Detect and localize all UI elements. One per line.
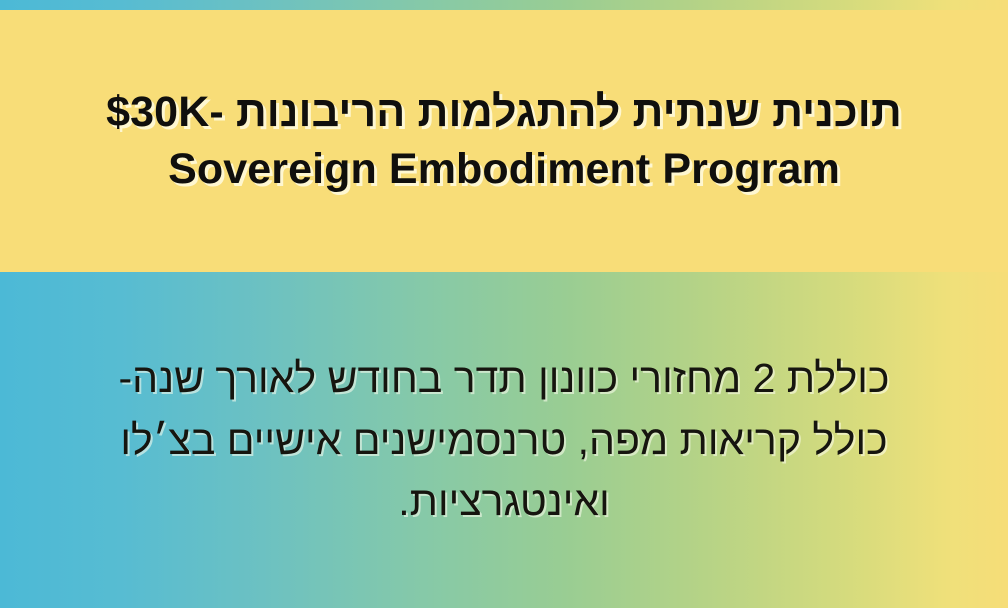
title-band: תוכנית שנתית להתגלמות הריבונות -$30K Sov…	[0, 10, 1008, 272]
slide-canvas: תוכנית שנתית להתגלמות הריבונות -$30K Sov…	[0, 0, 1008, 608]
body-description: כוללת 2 מחזורי כוונון תדר בחודש לאורך שנ…	[52, 348, 956, 533]
page-title: תוכנית שנתית להתגלמות הריבונות -$30K Sov…	[40, 84, 968, 198]
body-area: כוללת 2 מחזורי כוונון תדר בחודש לאורך שנ…	[0, 300, 1008, 580]
